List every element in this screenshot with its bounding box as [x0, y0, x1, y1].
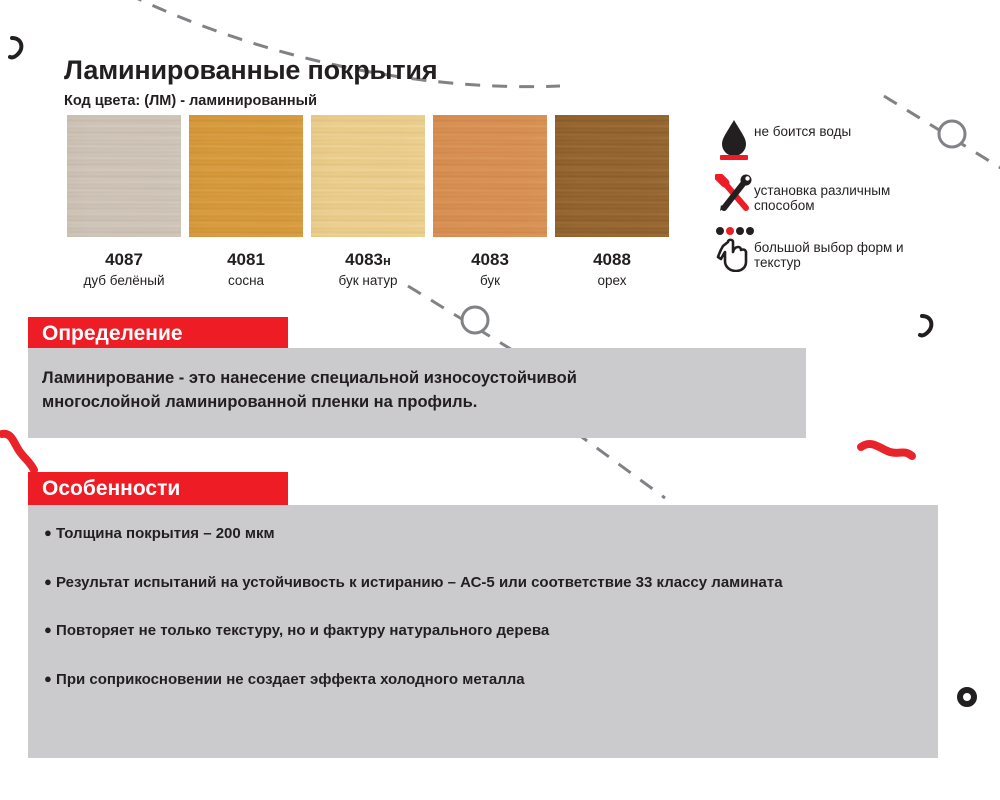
- swatch-item[interactable]: 4088 орех: [552, 115, 672, 288]
- definition-section-body: Ламинирование - это нанесение специально…: [28, 348, 806, 438]
- swatch-item[interactable]: 4081 сосна: [186, 115, 306, 288]
- swatch-item[interactable]: 4083 бук: [430, 115, 550, 288]
- water-drop-icon: [714, 118, 754, 162]
- wrench-screwdriver-icon: [714, 174, 754, 214]
- wood-grain-texture: [67, 115, 181, 237]
- definition-text-line-1: Ламинирование - это нанесение специально…: [42, 367, 782, 391]
- swatch-code: 4087: [64, 251, 184, 270]
- swatch-code-number: 4087: [105, 250, 143, 269]
- wood-swatch-icon[interactable]: [555, 115, 669, 237]
- swatch-code: 4081: [186, 251, 306, 270]
- list-item: ● Результат испытаний на устойчивость к …: [44, 572, 922, 595]
- bullet-marker: ●: [44, 574, 52, 589]
- feature-item-installation: установка различным способом: [714, 174, 964, 214]
- page-title: Ламинированные покрытия: [64, 56, 684, 86]
- swatch-code-number: 4083: [345, 250, 383, 269]
- swatch-code: 4088: [552, 251, 672, 270]
- comma-mark-top-left: [10, 38, 21, 57]
- feature-label: большой выбор форм и текстур: [754, 226, 949, 270]
- swatch-name: дуб белёный: [64, 273, 184, 289]
- wood-grain-texture: [433, 115, 547, 237]
- feature-label: не боится воды: [754, 118, 851, 139]
- list-item: ● Толщина покрытия – 200 мкм: [44, 523, 922, 546]
- characteristics-section-body: ● Толщина покрытия – 200 мкм ● Результат…: [28, 505, 938, 758]
- definition-section-header: Определение: [28, 317, 288, 350]
- circle-outline-center: [462, 307, 488, 333]
- bullet-marker: ●: [44, 671, 52, 686]
- color-swatch-row: 4087 дуб белёный 4081 сосна 4083н бук на…: [64, 115, 674, 288]
- list-item: ● Повторяет не только текстуру, но и фак…: [44, 620, 922, 643]
- wood-swatch-icon[interactable]: [311, 115, 425, 237]
- list-item-text: При соприкосновении не создает эффекта х…: [56, 671, 525, 688]
- dashed-line-lower-center: [575, 432, 665, 498]
- swatch-code: 4083: [430, 251, 550, 270]
- feature-label: установка различным способом: [754, 174, 949, 213]
- bullet-marker: ●: [44, 622, 52, 637]
- swatch-name: бук натур: [308, 273, 428, 289]
- wood-grain-texture: [555, 115, 669, 237]
- definition-text-line-2: многослойной ламинированной пленки на пр…: [42, 391, 782, 415]
- wood-grain-texture: [311, 115, 425, 237]
- wood-swatch-icon[interactable]: [67, 115, 181, 237]
- swatch-code-suffix: н: [383, 253, 391, 268]
- list-item-text: Повторяет не только текстуру, но и факту…: [56, 622, 549, 639]
- list-item-text: Толщина покрытия – 200 мкм: [56, 525, 275, 542]
- red-squiggle-left: [2, 434, 34, 470]
- swatch-code: 4083н: [308, 251, 428, 270]
- wood-grain-texture: [189, 115, 303, 237]
- swatch-code-number: 4081: [227, 250, 265, 269]
- comma-mark-right: [920, 316, 931, 335]
- list-item-text: Результат испытаний на устойчивость к ис…: [56, 574, 783, 591]
- swatch-item[interactable]: 4087 дуб белёный: [64, 115, 184, 288]
- ring-mark-bottom-right: [960, 690, 974, 704]
- page-subtitle: Код цвета: (ЛМ) - ламинированный: [64, 93, 684, 110]
- wood-swatch-icon[interactable]: [189, 115, 303, 237]
- bullet-marker: ●: [44, 525, 52, 540]
- list-item: ● При соприкосновении не создает эффекта…: [44, 669, 922, 692]
- wood-swatch-icon[interactable]: [433, 115, 547, 237]
- feature-item-water-resistant: не боится воды: [714, 118, 964, 162]
- feature-list: не боится воды установка: [714, 118, 964, 284]
- swatch-name: сосна: [186, 273, 306, 289]
- swatch-name: бук: [430, 273, 550, 289]
- page-header: Ламинированные покрытия Код цвета: (ЛМ) …: [64, 56, 684, 110]
- red-squiggle-right: [861, 444, 912, 456]
- swatch-item[interactable]: 4083н бук натур: [308, 115, 428, 288]
- infographic-page: Ламинированные покрытия Код цвета: (ЛМ) …: [0, 0, 1000, 800]
- characteristics-header-label: Особенности: [42, 478, 180, 499]
- feature-item-variety: большой выбор форм и текстур: [714, 226, 964, 272]
- definition-header-label: Определение: [42, 323, 183, 344]
- characteristics-section-header: Особенности: [28, 472, 288, 505]
- hand-pointing-dots-icon: [714, 226, 754, 272]
- swatch-code-number: 4088: [593, 250, 631, 269]
- swatch-code-number: 4083: [471, 250, 509, 269]
- swatch-name: орех: [552, 273, 672, 289]
